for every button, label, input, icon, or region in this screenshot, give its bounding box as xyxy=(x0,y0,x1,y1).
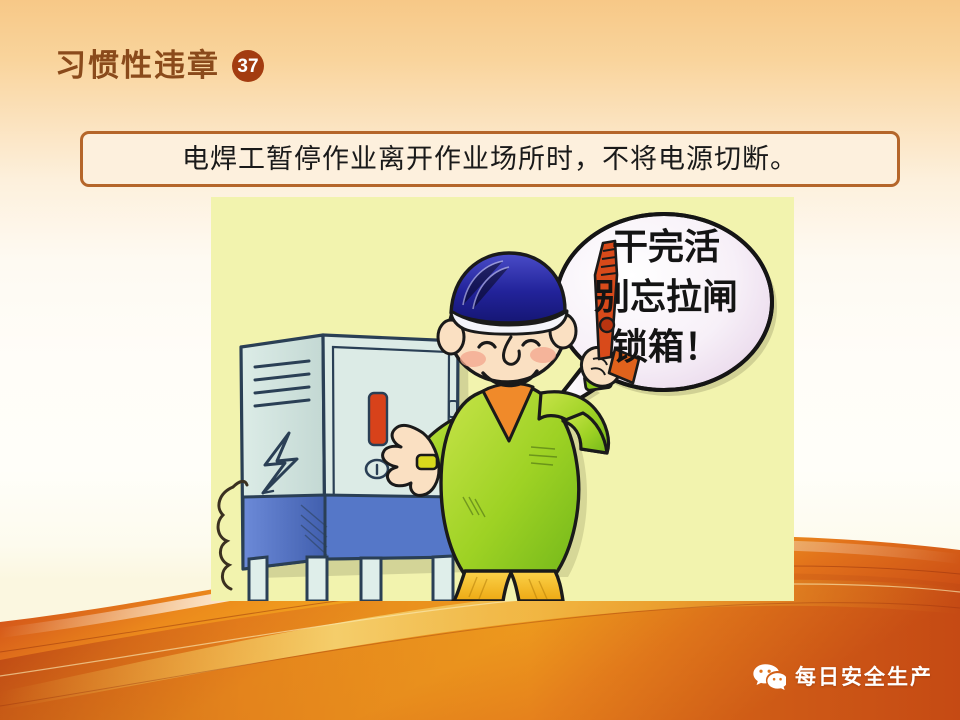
bubble-line-3: 锁箱！ xyxy=(612,327,720,368)
bubble-line-2: 别忘拉闸 xyxy=(594,277,738,318)
page-title-row: 习惯性违章 37 xyxy=(55,50,264,82)
brand-name: 每日安全生产 xyxy=(795,667,933,688)
statement-box: 电焊工暂停作业离开作业场所时，不将电源切断。 xyxy=(80,131,900,187)
page-title: 习惯性违章 xyxy=(55,51,220,82)
status-badge: 37 xyxy=(232,50,264,82)
illustration-panel: 干完活 别忘拉闸 锁箱！ xyxy=(211,197,794,601)
statement-text: 电焊工暂停作业离开作业场所时，不将电源切断。 xyxy=(182,146,798,173)
wechat-icon xyxy=(752,662,786,692)
speech-bubble-text: 干完活 别忘拉闸 锁箱！ xyxy=(594,227,738,368)
bubble-line-1: 干完活 xyxy=(612,227,720,268)
brand-watermark: 每日安全生产 xyxy=(752,662,933,692)
slide-canvas: 习惯性违章 37 电焊工暂停作业离开作业场所时，不将电源切断。 xyxy=(0,0,960,720)
